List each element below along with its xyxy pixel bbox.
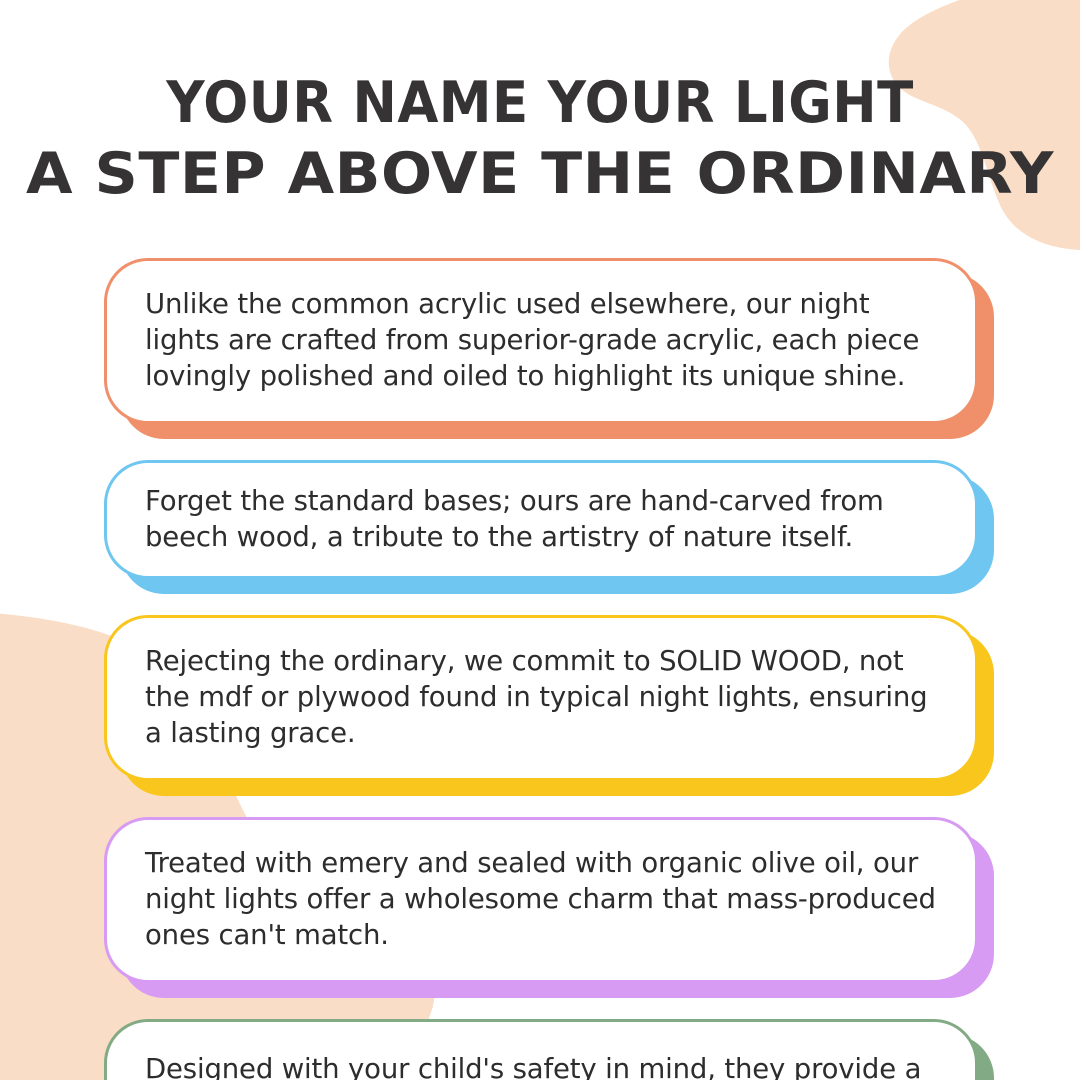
card-body: Unlike the common acrylic used elsewhere… (104, 258, 978, 424)
feature-card-list: Unlike the common acrylic used elsewhere… (104, 258, 996, 1080)
feature-card: Forget the standard bases; ours are hand… (104, 460, 978, 580)
feature-card: Designed with your child's safety in min… (104, 1019, 978, 1080)
card-body: Rejecting the ordinary, we commit to SOL… (104, 615, 978, 781)
card-text: Unlike the common acrylic used elsewhere… (145, 287, 941, 395)
feature-card: Unlike the common acrylic used elsewhere… (104, 258, 978, 424)
card-text: Rejecting the ordinary, we commit to SOL… (145, 644, 941, 752)
poster-canvas: Your Name Your Light A Step Above The Or… (0, 0, 1080, 1080)
card-body: Treated with emery and sealed with organ… (104, 817, 978, 983)
feature-card: Treated with emery and sealed with organ… (104, 817, 978, 983)
feature-card: Rejecting the ordinary, we commit to SOL… (104, 615, 978, 781)
page-title: Your Name Your Light A Step Above The Or… (0, 74, 1080, 203)
card-text: Designed with your child's safety in min… (145, 1052, 941, 1080)
page-title-line-2: A Step Above The Ordinary (0, 145, 1080, 203)
card-text: Treated with emery and sealed with organ… (145, 846, 941, 954)
page-title-line-1: Your Name Your Light (38, 74, 1042, 132)
card-body: Forget the standard bases; ours are hand… (104, 460, 978, 580)
card-body: Designed with your child's safety in min… (104, 1019, 978, 1080)
card-text: Forget the standard bases; ours are hand… (145, 484, 941, 556)
